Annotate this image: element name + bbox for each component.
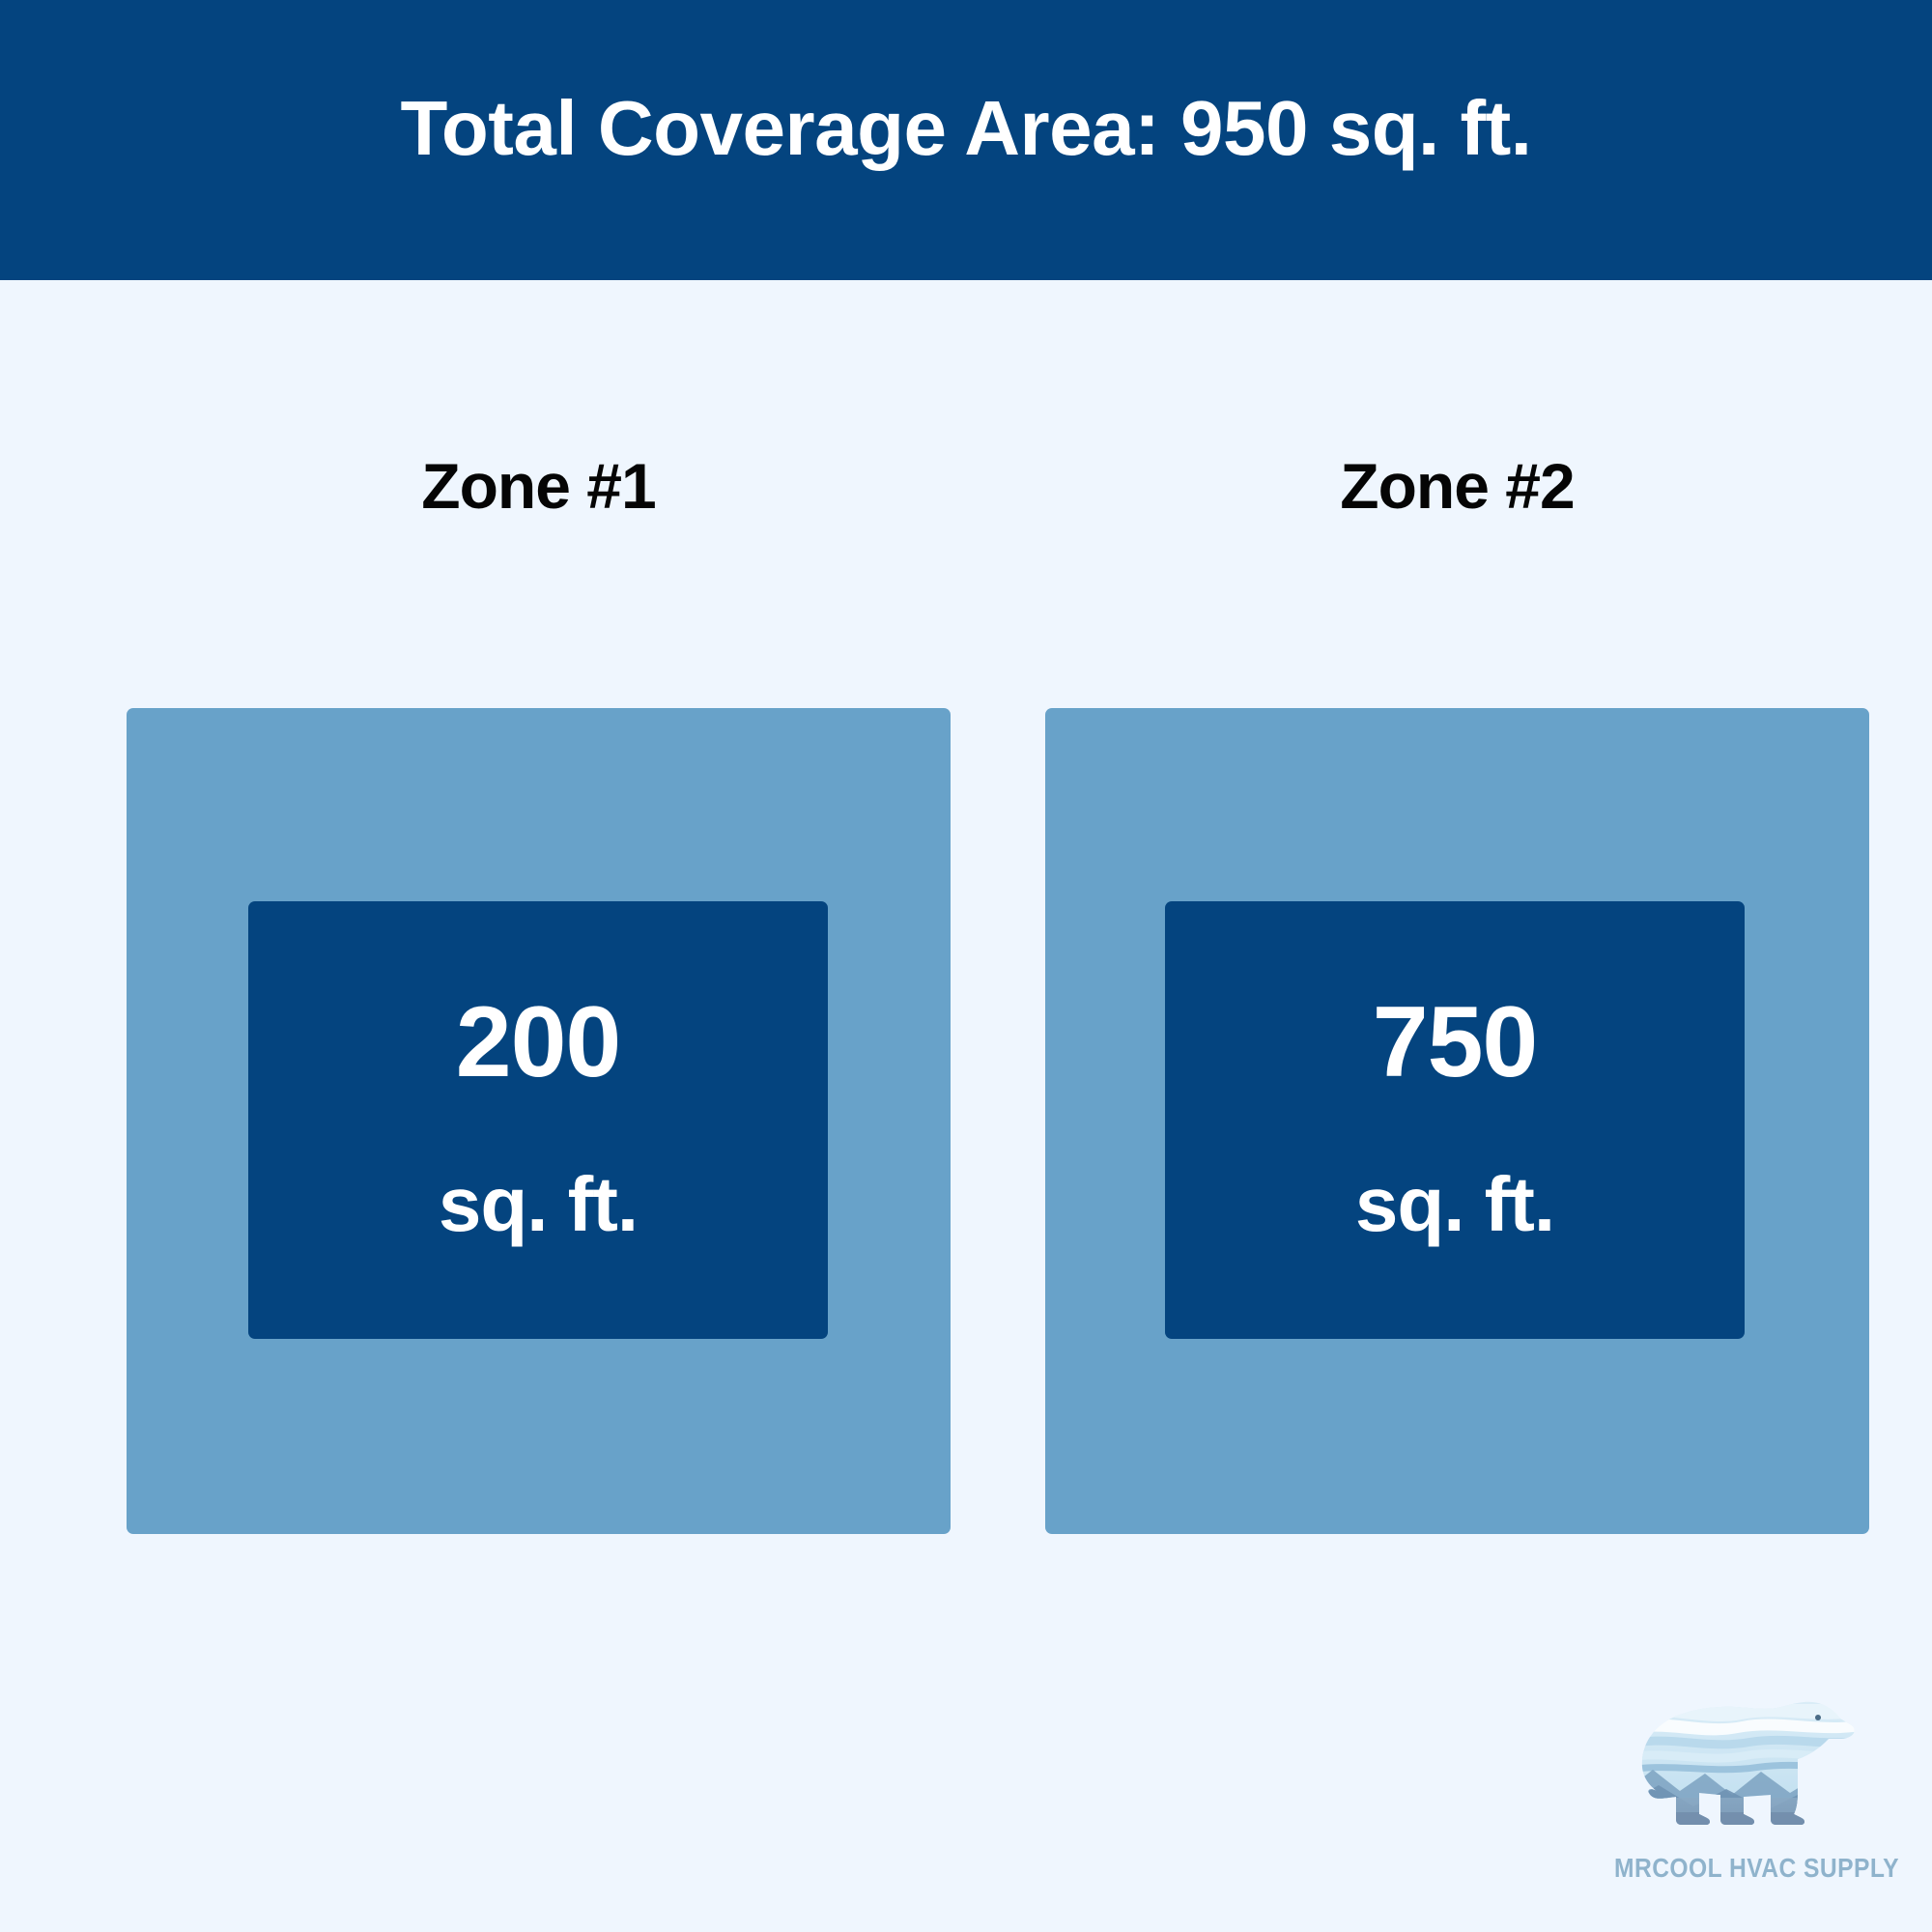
zone-1-label: Zone #1 [127,454,951,518]
zone-1-value-box: 200 sq. ft. [248,901,828,1339]
coverage-area-infographic: Total Coverage Area: 950 sq. ft. Zone #1… [0,0,1932,1932]
header-band: Total Coverage Area: 950 sq. ft. [0,0,1932,280]
zone-2-value: 750 [1373,992,1538,1093]
brand-logo: MRCOOL HVAC SUPPLY [1597,1677,1887,1899]
zone-card-2: Zone #2 750 sq. ft. [1045,280,1869,1534]
zone-1-value: 200 [456,992,621,1093]
logo-wordmark: MRCOOL HVAC SUPPLY [1614,1853,1869,1884]
polar-bear-icon [1597,1677,1887,1851]
zone-2-unit: sq. ft. [1355,1166,1554,1243]
zone-2-value-box: 750 sq. ft. [1165,901,1745,1339]
page-title: Total Coverage Area: 950 sq. ft. [400,88,1531,169]
zone-1-panel: 200 sq. ft. [127,708,951,1534]
zones-container: Zone #1 200 sq. ft. Zone #2 750 sq. ft. [0,280,1932,1633]
zone-2-label: Zone #2 [1045,454,1869,518]
zone-1-unit: sq. ft. [439,1166,638,1243]
zone-card-1: Zone #1 200 sq. ft. [127,280,951,1534]
zone-2-panel: 750 sq. ft. [1045,708,1869,1534]
